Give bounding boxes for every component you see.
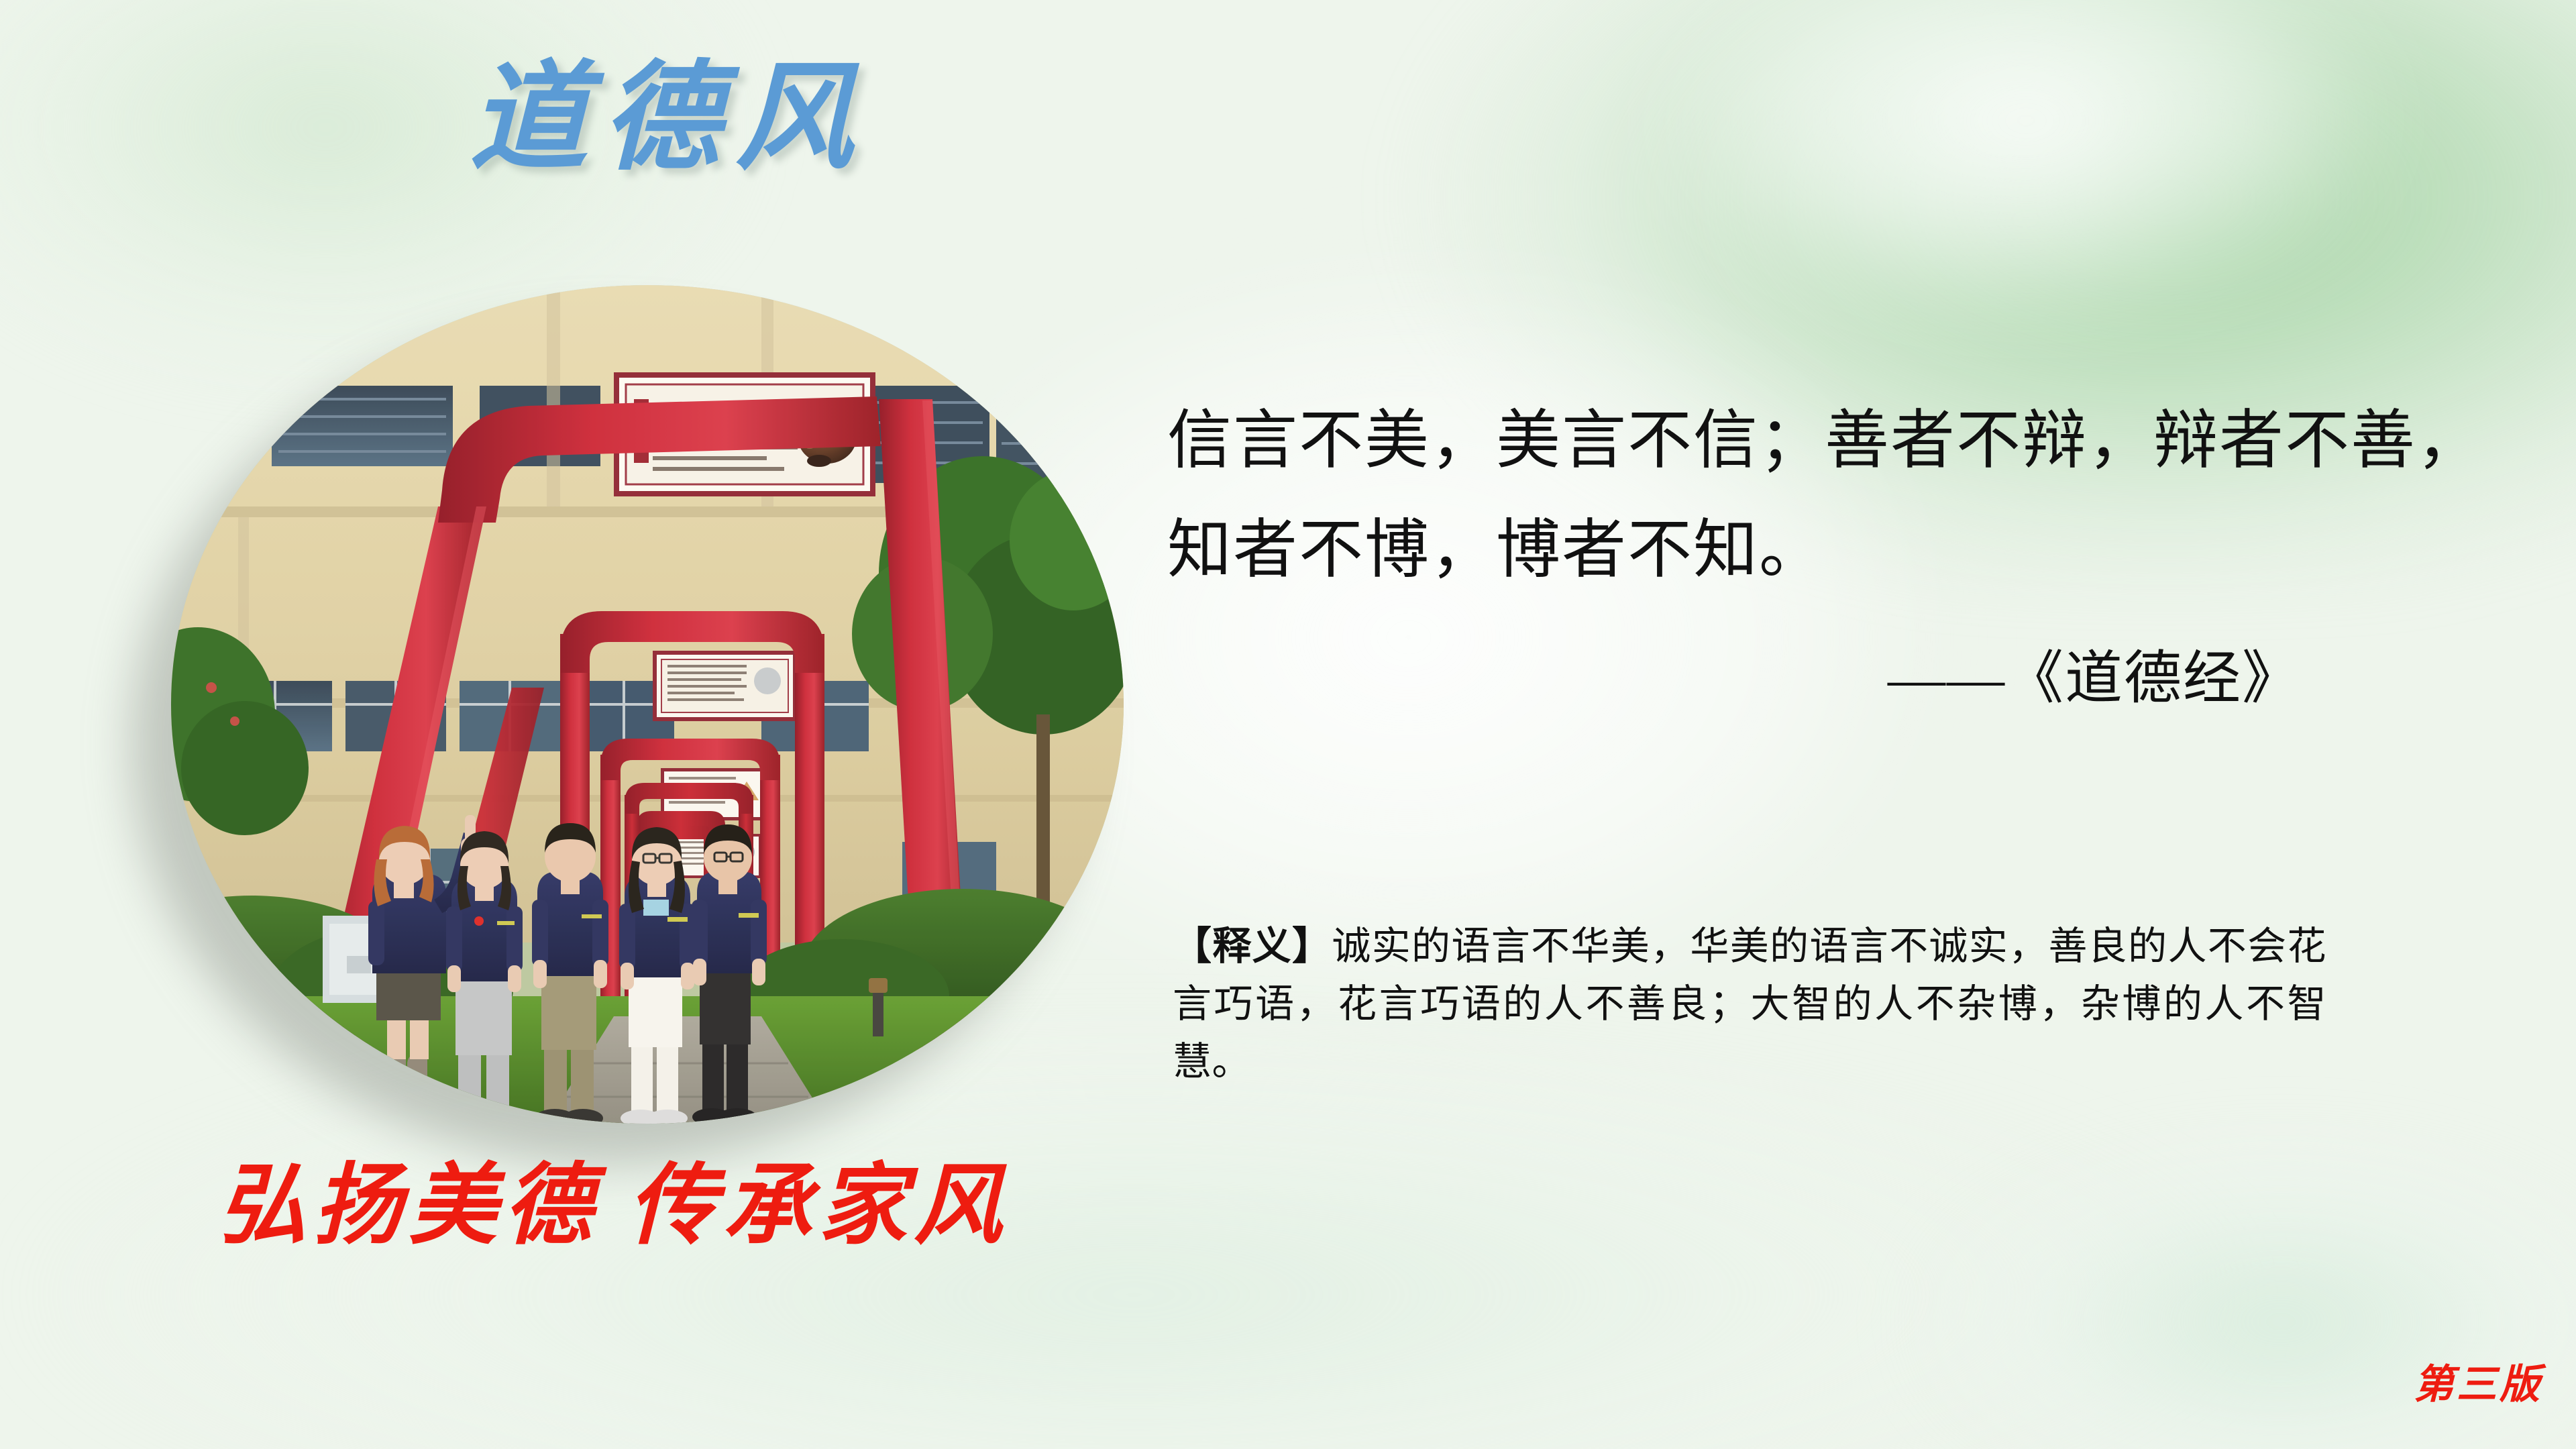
- photo-illustration: [171, 285, 1124, 1124]
- poster-page: 道德风: [0, 0, 2576, 1449]
- quote-block: 信言不美，美言不信；善者不辩，辩者不善， 知者不博，博者不知。: [1167, 386, 2495, 604]
- explanation-tag: 【释义】: [1173, 924, 1332, 968]
- photo-figure: [171, 285, 1124, 1124]
- explanation-block: 【释义】诚实的语言不华美，华美的语言不诚实，善良的人不会花言巧语，花言巧语的人不…: [1173, 918, 2326, 1090]
- background-wash-highlight: [1556, 0, 2495, 376]
- quote-attribution: ——《道德经》: [1167, 631, 2301, 714]
- quote-line-2: 知者不博，博者不知。: [1167, 495, 2495, 604]
- circular-photo: [171, 285, 1124, 1124]
- page-number-marker: 第三版: [2414, 1352, 2542, 1410]
- page-title: 道德风: [470, 60, 868, 178]
- quote-line-1: 信言不美，美言不信；善者不辩，辩者不善，: [1167, 386, 2495, 495]
- photo-slogan: 弘扬美德 传承家风: [218, 1150, 1009, 1261]
- explanation-body: 诚实的语言不华美，华美的语言不诚实，善良的人不会花言巧语，花言巧语的人不善良；大…: [1173, 924, 2326, 1083]
